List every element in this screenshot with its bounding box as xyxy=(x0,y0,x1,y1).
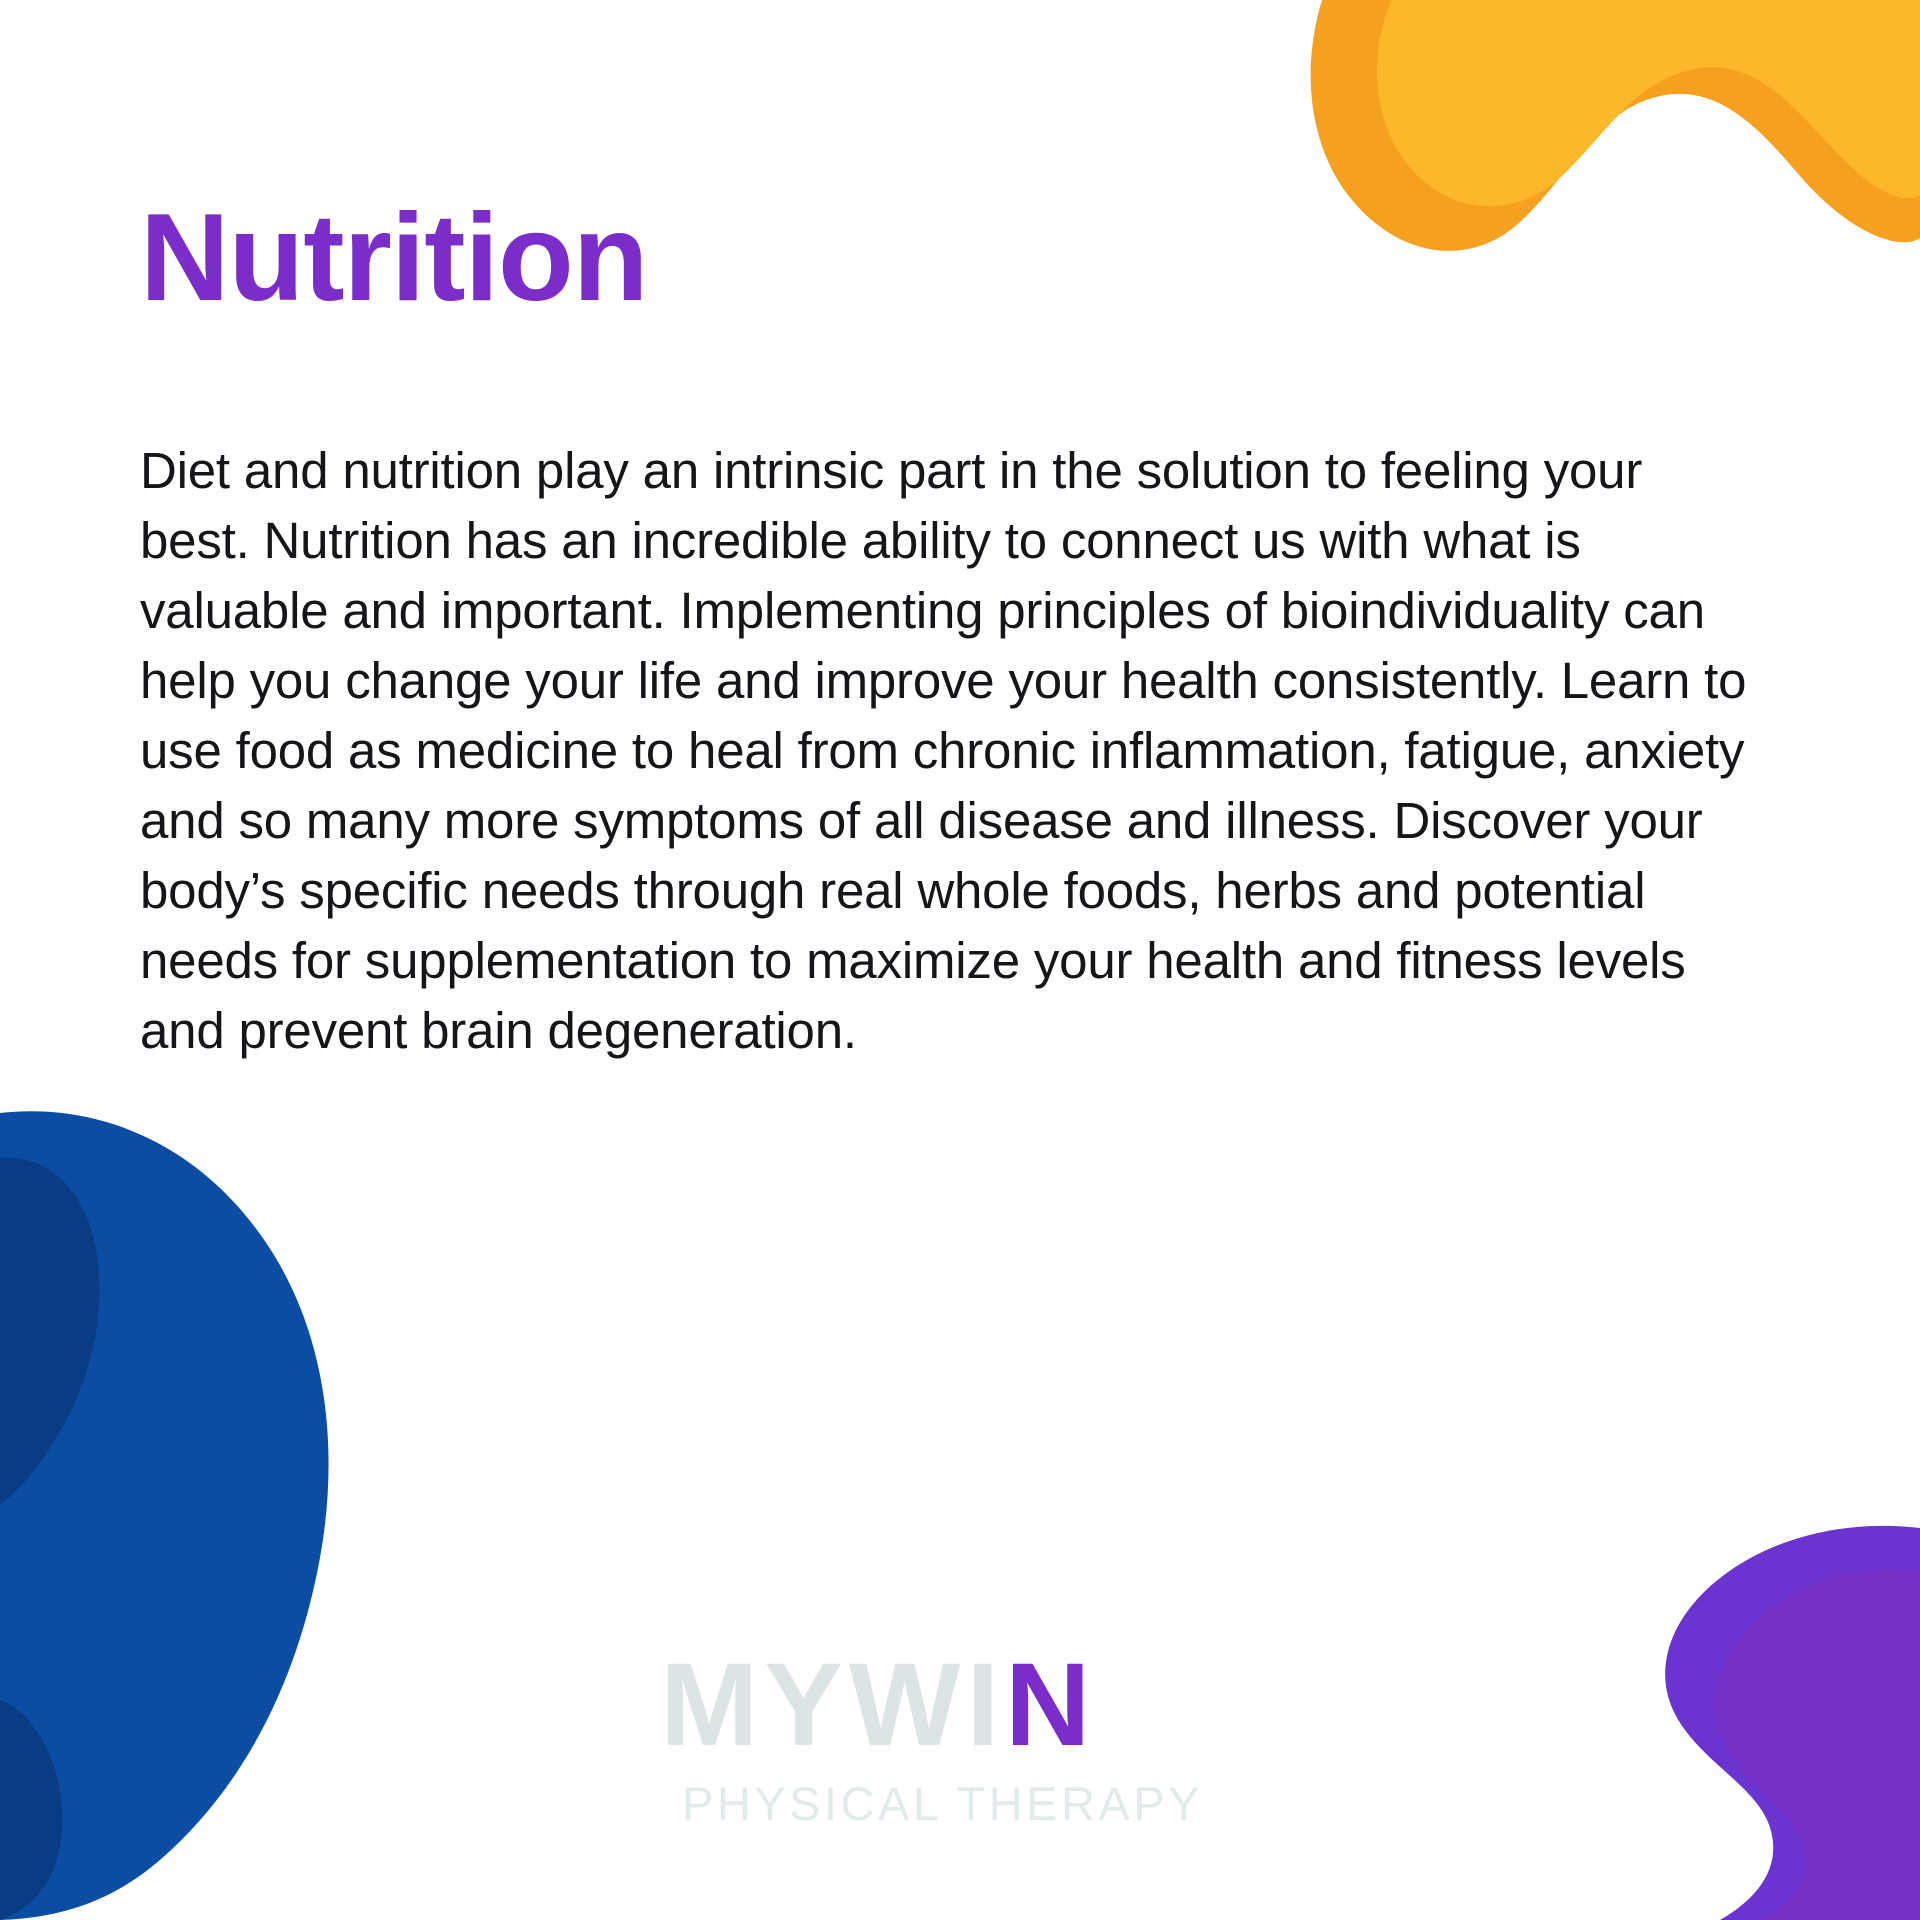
purple-blob-front-shape xyxy=(1714,1569,1920,1920)
slide-canvas: Nutrition Diet and nutrition play an int… xyxy=(0,0,1920,1920)
page-title: Nutrition xyxy=(140,196,648,320)
logo-wordmark-light: MYWI xyxy=(660,1639,1005,1771)
logo-wordmark: MYWIN xyxy=(660,1645,1260,1765)
purple-blob-back-shape xyxy=(1665,1526,1920,1920)
orange-blob-back-shape xyxy=(1311,0,1920,251)
body-paragraph: Diet and nutrition play an intrinsic par… xyxy=(140,436,1760,1066)
logo-tagline: PHYSICAL THERAPY xyxy=(660,1779,1260,1829)
orange-blob-front-shape xyxy=(1377,0,1920,206)
blue-blob-outer-shape xyxy=(0,1111,329,1920)
logo-wordmark-accent: N xyxy=(1005,1639,1096,1771)
brand-logo: MYWIN PHYSICAL THERAPY xyxy=(660,1645,1260,1829)
blue-blob-inner-shape xyxy=(0,1158,99,1920)
